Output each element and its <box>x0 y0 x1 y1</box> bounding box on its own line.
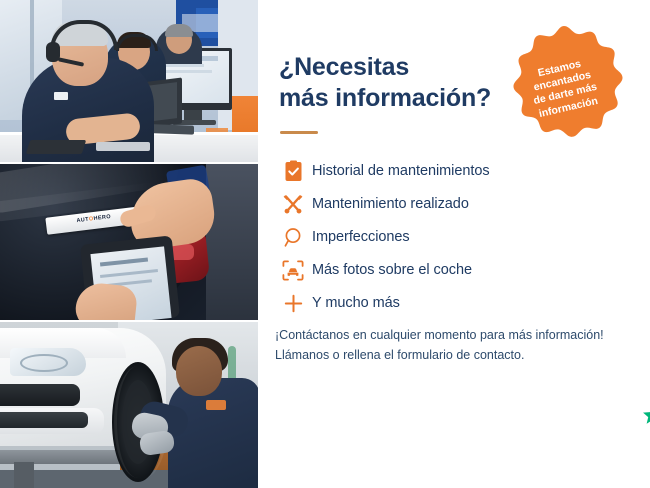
magnifier-icon <box>274 224 312 250</box>
photo-divider <box>0 162 258 164</box>
page-title: ¿Necesitas más información? <box>279 52 509 113</box>
car-focus-icon <box>274 257 312 283</box>
headset-icon <box>502 24 524 44</box>
feature-item-mucho-mas: Y mucho más <box>274 287 614 319</box>
feature-item-historial: Historial de mantenimientos <box>274 155 614 187</box>
clipboard-check-icon <box>274 158 312 184</box>
promo-starburst-badge: Estamos encantados de darte más informac… <box>502 24 626 148</box>
call-center-agent-photo <box>0 0 258 164</box>
photo-divider <box>0 320 258 322</box>
feature-label: Imperfecciones <box>312 229 410 245</box>
plus-icon <box>274 290 312 316</box>
tools-cross-icon <box>274 191 312 217</box>
trustpilot-star-icon <box>642 405 650 426</box>
car-inspection-ruler-photo: AUTOHERO <box>0 164 258 322</box>
feature-list: Historial de mantenimientos Mantenimient… <box>274 155 614 320</box>
feature-label: Más fotos sobre el coche <box>312 262 472 278</box>
headline-line-2: más información? <box>279 83 509 114</box>
contact-info-banner: AUTOHERO <box>0 0 650 488</box>
feature-label: Historial de mantenimientos <box>312 163 490 179</box>
feature-item-imperfecciones: Imperfecciones <box>274 221 614 253</box>
feature-label: Y mucho más <box>312 295 400 311</box>
mechanic-wheel-photo <box>0 322 258 488</box>
trustpilot-widget[interactable]: Trustpilot Excelente EMPRESA VERIFICADA <box>636 388 650 450</box>
feature-item-mantenimiento: Mantenimiento realizado <box>274 188 614 220</box>
paragraph-line-2: Llámanos o rellena el formulario de cont… <box>275 345 631 365</box>
feature-item-fotos: Más fotos sobre el coche <box>274 254 614 286</box>
title-underline-rule <box>280 131 318 134</box>
contact-paragraph: ¡Contáctanos en cualquier momento para m… <box>275 325 631 366</box>
content-panel: ¿Necesitas más información? Estamos enca… <box>258 0 650 488</box>
photo-column: AUTOHERO <box>0 0 258 488</box>
headline-line-1: ¿Necesitas <box>279 52 509 83</box>
feature-label: Mantenimiento realizado <box>312 196 469 212</box>
paragraph-line-1: ¡Contáctanos en cualquier momento para m… <box>275 325 631 345</box>
trustpilot-logo[interactable]: Trustpilot <box>642 404 650 427</box>
